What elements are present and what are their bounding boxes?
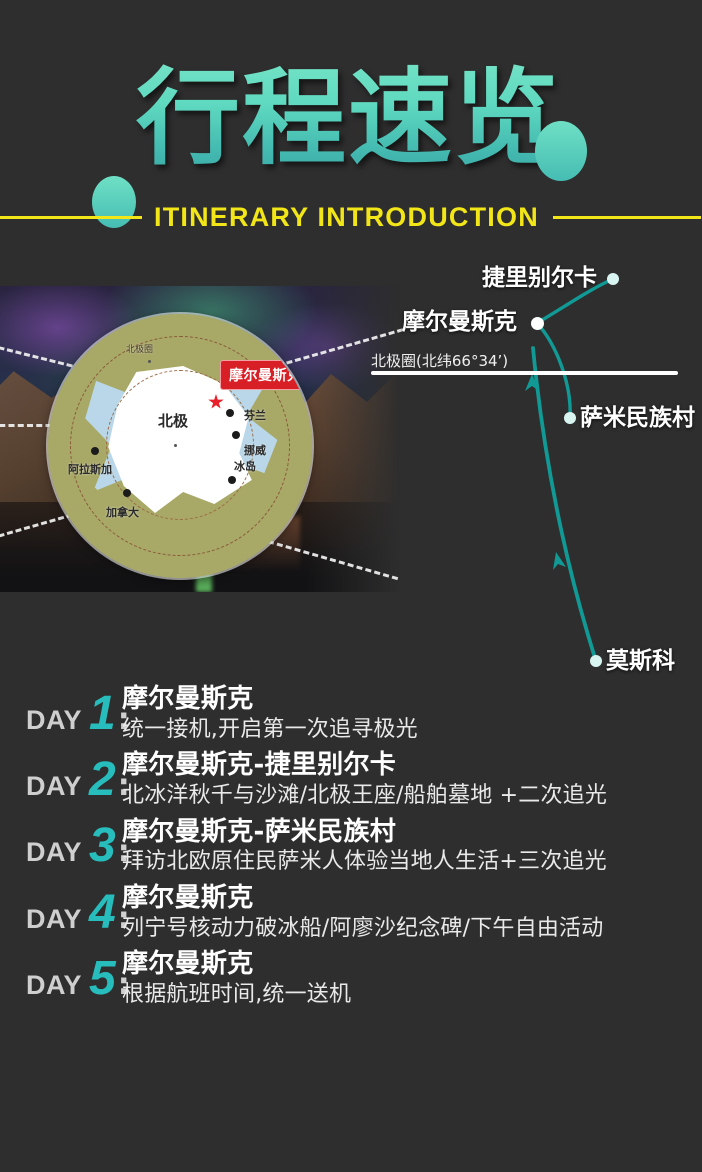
itinerary-day-3[interactable]: DAY 3 : 摩尔曼斯克-萨米民族村 拜访北欧原住民萨米人体验当地人生活+三次… [0, 817, 702, 877]
route-label-teriberka: 捷里别尔卡 [482, 258, 597, 292]
arctic-map-disc: 北极圈 北极 阿拉斯加 加拿大 芬兰 挪威 冰岛 摩尔曼斯克 [48, 314, 312, 578]
day-3-tag: DAY 3 : [0, 824, 118, 869]
itinerary-day-1[interactable]: DAY 1 : 摩尔曼斯克 统一接机,开启第一次追寻极光 [0, 684, 702, 744]
route-segment-moscow-murmansk [533, 348, 596, 661]
map-dot-arctic-circle [148, 360, 151, 363]
map-dot-norway [232, 431, 240, 439]
page-title: 行程速览 [136, 58, 560, 178]
day-5-word: DAY [26, 970, 82, 1001]
map-label-arctic-circle: 北极圈 [126, 342, 153, 355]
day-5-body: 摩尔曼斯克 根据航班时间,统一送机 [118, 949, 702, 1009]
map-label-norway: 挪威 [244, 442, 266, 458]
day-5-title: 摩尔曼斯克 [122, 949, 702, 981]
arctic-circle-arc-inner [106, 370, 254, 520]
day-1-word: DAY [26, 705, 82, 736]
day-4-body: 摩尔曼斯克 列宁号核动力破冰船/阿廖沙纪念碑/下午自由活动 [118, 883, 702, 943]
day-3-description: 拜访北欧原住民萨米人体验当地人生活+三次追光 [122, 848, 702, 877]
day-5-tag: DAY 5 : [0, 957, 118, 1002]
map-label-north-pole: 北极 [158, 410, 188, 431]
day-3-word: DAY [26, 837, 82, 868]
map-dot-alaska [91, 447, 99, 455]
page-header: 行程速览 [0, 58, 702, 188]
map-label-alaska: 阿拉斯加 [68, 461, 112, 477]
day-4-tag: DAY 4 : [0, 891, 118, 936]
map-dot-north-pole [174, 444, 177, 447]
day-2-body: 摩尔曼斯克-捷里别尔卡 北冰洋秋千与沙滩/北极王座/船舶墓地 +二次追光 [118, 750, 702, 810]
map-dot-finland [226, 409, 234, 417]
day-1-title: 摩尔曼斯克 [122, 684, 702, 716]
map-and-route-section: 北极圈 北极 阿拉斯加 加拿大 芬兰 挪威 冰岛 摩尔曼斯克 [0, 252, 702, 676]
day-2-description: 北冰洋秋千与沙滩/北极王座/船舶墓地 +二次追光 [122, 782, 702, 811]
route-node-teriberka [607, 273, 619, 285]
itinerary-list: DAY 1 : 摩尔曼斯克 统一接机,开启第一次追寻极光 DAY 2 : 摩尔曼… [0, 684, 702, 1016]
decorative-dot-right-icon [535, 121, 587, 181]
arctic-circle-line [371, 371, 678, 375]
arctic-circle-label: 北极圈(北纬66°34’) [371, 350, 508, 371]
subtitle-rule-left [0, 216, 142, 219]
day-2-word: DAY [26, 771, 82, 802]
day-3-body: 摩尔曼斯克-萨米民族村 拜访北欧原住民萨米人体验当地人生活+三次追光 [118, 817, 702, 877]
day-4-number: 4 [89, 891, 116, 934]
day-3-number: 3 [89, 824, 116, 867]
day-2-tag: DAY 2 : [0, 758, 118, 803]
day-5-number: 5 [89, 957, 116, 1000]
page-subtitle: ITINERARY INTRODUCTION [154, 202, 539, 233]
subtitle-rule-right [553, 216, 701, 219]
itinerary-day-5[interactable]: DAY 5 : 摩尔曼斯克 根据航班时间,统一送机 [0, 949, 702, 1009]
day-1-body: 摩尔曼斯克 统一接机,开启第一次追寻极光 [118, 684, 702, 744]
day-2-number: 2 [89, 758, 116, 801]
itinerary-day-2[interactable]: DAY 2 : 摩尔曼斯克-捷里别尔卡 北冰洋秋千与沙滩/北极王座/船舶墓地 +… [0, 750, 702, 810]
day-1-description: 统一接机,开启第一次追寻极光 [122, 716, 702, 745]
map-label-iceland: 冰岛 [234, 458, 256, 474]
day-4-description: 列宁号核动力破冰船/阿廖沙纪念碑/下午自由活动 [122, 915, 702, 944]
day-2-title: 摩尔曼斯克-捷里别尔卡 [122, 750, 702, 782]
itinerary-day-4[interactable]: DAY 4 : 摩尔曼斯克 列宁号核动力破冰船/阿廖沙纪念碑/下午自由活动 [0, 883, 702, 943]
route-node-sami-village [564, 412, 576, 424]
subtitle-row: ITINERARY INTRODUCTION [0, 196, 702, 238]
route-arrow-south-icon [553, 552, 566, 570]
route-node-murmansk [531, 317, 544, 330]
day-4-title: 摩尔曼斯克 [122, 883, 702, 915]
map-label-finland: 芬兰 [244, 407, 266, 423]
day-3-title: 摩尔曼斯克-萨米民族村 [122, 817, 702, 849]
route-label-moscow: 莫斯科 [606, 641, 675, 675]
day-1-tag: DAY 1 : [0, 692, 118, 737]
route-node-moscow [590, 655, 602, 667]
map-dot-canada [123, 489, 131, 497]
route-diagram: 北极圈(北纬66°34’) 捷里别尔卡 摩尔曼斯克 萨米民族村 莫斯科 [360, 252, 702, 676]
day-4-word: DAY [26, 904, 82, 935]
day-5-description: 根据航班时间,统一送机 [122, 981, 702, 1010]
day-1-number: 1 [89, 692, 116, 735]
map-dot-iceland [228, 476, 236, 484]
route-label-sami-village: 萨米民族村 [580, 398, 695, 432]
route-label-murmansk: 摩尔曼斯克 [402, 302, 517, 336]
murmansk-map-badge: 摩尔曼斯克 [220, 360, 311, 390]
map-label-canada: 加拿大 [106, 504, 139, 520]
